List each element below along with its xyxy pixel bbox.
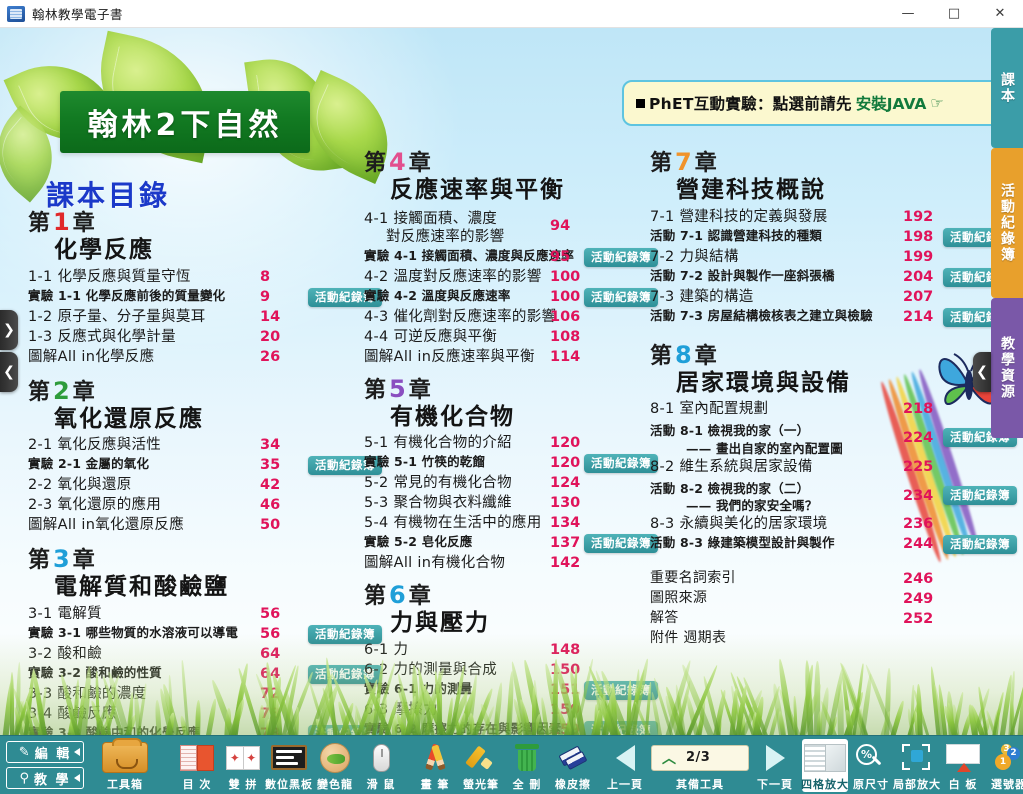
- toc-row[interactable]: 6-1 力148: [364, 641, 654, 660]
- chapter-number: 2: [51, 377, 73, 405]
- highlighter-label: 螢光筆: [463, 776, 499, 792]
- chapter-prefix: 第: [364, 584, 387, 609]
- toc-label: 7-3 建築的構造: [650, 288, 754, 307]
- prev-page-label: 上一頁: [607, 776, 643, 792]
- toc-page: 56: [260, 605, 280, 624]
- toc-page: 198: [903, 228, 933, 247]
- toc-label: 4-2 溫度對反應速率的影響: [364, 268, 542, 287]
- trash-icon: [515, 742, 539, 774]
- chapter-name: 電解質和酸鹼鹽: [54, 574, 358, 602]
- toc-row[interactable]: 圖解All in有機化合物142: [364, 554, 654, 573]
- chapter-prefix: 第: [364, 151, 387, 176]
- toc-page: 148: [550, 641, 580, 660]
- chapter-block: 第6章 力與壓力 6-1 力148 6-2 力的測量與合成150 實驗 6-1 …: [364, 581, 654, 735]
- chapter-number: 7: [673, 148, 695, 176]
- toc-label: 1-1 化學反應與質量守恆: [28, 268, 191, 287]
- toc-row[interactable]: 實驗 3-2 酸和鹼的性質64活動紀錄簿: [28, 665, 358, 684]
- toc-page: 50: [260, 516, 280, 535]
- number-picker-label: 選號器: [991, 776, 1023, 792]
- pen-button[interactable]: 畫 筆: [412, 739, 458, 792]
- toc-page: 26: [260, 348, 280, 367]
- toc-page: 9: [260, 288, 270, 307]
- toc-row[interactable]: 8-3 永續與美化的居家環境236: [650, 515, 980, 534]
- partial-zoom-icon: [902, 742, 932, 774]
- chapter-suffix: 章: [73, 380, 96, 405]
- toc-page: 120: [550, 454, 580, 473]
- chapter-prefix: 第: [28, 380, 51, 405]
- toc-label: 附件 週期表: [650, 630, 726, 648]
- toc-page: 159: [550, 721, 580, 735]
- toc-row[interactable]: 2-3 氧化還原的應用46: [28, 496, 358, 515]
- toc-page: 94: [550, 217, 570, 236]
- toc-label: 5-3 聚合物與衣料纖維: [364, 494, 512, 513]
- chapter-name: 營建科技概說: [676, 177, 980, 205]
- activity-record-badge[interactable]: 活動紀錄簿: [584, 681, 658, 700]
- four-grid-zoom-label: 四格放大: [801, 776, 849, 792]
- toc-row[interactable]: 活動 8-1 檢視我的家（一） —— 畫出自家的室內配置圖 224 活動紀錄簿: [650, 420, 980, 456]
- contents-button[interactable]: 目 次: [174, 739, 220, 792]
- chapter-items: 7-1 營建科技的定義與發展192 活動 7-1 認識營建科技的種類198活動紀…: [650, 208, 980, 327]
- toc-page: 34: [260, 436, 280, 455]
- activity-record-badge[interactable]: 活動紀錄簿: [584, 248, 658, 267]
- toc-row[interactable]: 4-2 溫度對反應速率的影響100: [364, 268, 654, 287]
- chapter-name: 化學反應: [54, 237, 358, 265]
- activity-record-badge[interactable]: 活動紀錄簿: [584, 534, 658, 553]
- toc-label: 圖解All in化學反應: [28, 348, 154, 367]
- toc-row[interactable]: 活動 8-3 綠建築模型設計與製作244活動紀錄簿: [650, 535, 980, 554]
- mouse-label: 滑 鼠: [367, 776, 396, 792]
- toc-row[interactable]: 圖解All in氧化還原反應50: [28, 516, 358, 535]
- toc-label: 2-2 氧化與還原: [28, 476, 132, 495]
- chapter-name: 氧化還原反應: [54, 406, 358, 434]
- toolbox-icon: [102, 742, 148, 774]
- toc-row[interactable]: 活動 7-1 認識營建科技的種類198活動紀錄簿: [650, 228, 980, 247]
- toc-page: 192: [903, 208, 933, 227]
- chapter-prefix: 第: [650, 344, 673, 369]
- toc-row[interactable]: 1-3 反應式與化學計量20: [28, 328, 358, 347]
- chapter-block: 第5章 有機化合物 5-1 有機化合物的介紹120 實驗 5-1 竹筷的乾餾12…: [364, 375, 654, 574]
- chapter-suffix: 章: [695, 344, 718, 369]
- mouse-icon: [373, 742, 390, 774]
- eraser-icon: [558, 742, 588, 774]
- toc-label: 實驗 4-2 溫度與反應速率: [364, 288, 511, 304]
- toc-row[interactable]: 4-3 催化劑對反應速率的影響106: [364, 308, 654, 327]
- toc-label: 重要名詞索引: [650, 570, 736, 588]
- side-tab-activity-record[interactable]: 活動紀錄簿: [991, 148, 1023, 298]
- toc-row[interactable]: 實驗 5-2 皂化反應137活動紀錄簿: [364, 534, 654, 553]
- toc-column-3: 第7章 營建科技概說 7-1 營建科技的定義與發展192 活動 7-1 認識營建…: [650, 148, 980, 650]
- chapter-heading: 第4章: [364, 148, 654, 177]
- side-tab-teaching-resources[interactable]: 教學資源: [991, 298, 1023, 438]
- toc-row[interactable]: 7-2 力與結構199: [650, 248, 980, 267]
- toc-row[interactable]: 解答252: [650, 610, 980, 629]
- chapter-block: 第3章 電解質和酸鹼鹽 3-1 電解質56 實驗 3-1 哪些物質的水溶液可以導…: [28, 545, 358, 735]
- chapter-prefix: 第: [28, 211, 51, 236]
- chapter-items: 2-1 氧化反應與活性34 實驗 2-1 金屬的氧化35活動紀錄簿 2-2 氧化…: [28, 436, 358, 535]
- toc-page: 64: [260, 665, 280, 684]
- toc-page: 204: [903, 268, 933, 287]
- toc-page: 42: [260, 476, 280, 495]
- prev-page-button[interactable]: 上一頁: [602, 739, 648, 792]
- toc-page: 207: [903, 288, 933, 307]
- toc-page: 150: [550, 661, 580, 680]
- blackboard-button[interactable]: 數位黑板: [266, 739, 312, 792]
- toc-row[interactable]: 實驗 2-1 金屬的氧化35活動紀錄簿: [28, 456, 358, 475]
- window-title: 翰林教學電子書: [32, 4, 123, 23]
- toc-label-line2: —— 畫出自家的室內配置圖: [686, 441, 843, 457]
- toc-label: 活動 8-3 綠建築模型設計與製作: [650, 535, 835, 551]
- partial-zoom-label: 局部放大: [893, 776, 941, 792]
- chapter-name: 有機化合物: [390, 404, 654, 432]
- triangle-left-icon: [616, 742, 635, 774]
- actual-size-label: 原尺寸: [853, 776, 889, 792]
- toc-row[interactable]: 5-2 常見的有機化合物124: [364, 474, 654, 493]
- page-prev-arrow-icon[interactable]: ❮: [973, 352, 991, 392]
- maximize-button[interactable]: □: [931, 0, 977, 28]
- toc-row[interactable]: 2-2 氧化與還原42: [28, 476, 358, 495]
- mouse-button[interactable]: 滑 鼠: [358, 739, 404, 792]
- toc-label: 活動 7-3 房屋結構檢核表之建立與檢驗: [650, 308, 873, 324]
- toc-label: 實驗 6-1 力的測量: [364, 681, 473, 697]
- chapter-suffix: 章: [409, 378, 432, 403]
- toc-row[interactable]: 6-2 力的測量與合成150: [364, 661, 654, 680]
- toc-label: 8-3 永續與美化的居家環境: [650, 515, 828, 534]
- toc-row[interactable]: 附件 週期表: [650, 630, 980, 649]
- toc-page: 137: [550, 534, 580, 553]
- side-tab-textbook[interactable]: 課本: [991, 28, 1023, 148]
- toc-label-line2: —— 我們的家安全嗎？: [686, 498, 818, 514]
- activity-record-badge[interactable]: 活動紀錄簿: [584, 288, 658, 307]
- bullet-square-icon: [636, 99, 645, 108]
- toc-label: 2-1 氧化反應與活性: [28, 436, 161, 455]
- toc-label: 活動 8-2 檢視我的家（二）: [650, 481, 809, 496]
- toc-label: 實驗 3-1 哪些物質的水溶液可以導電: [28, 625, 238, 641]
- toc-page: 159: [550, 701, 580, 720]
- actual-size-icon: %: [856, 742, 886, 774]
- toc-row[interactable]: 1-2 原子量、分子量與莫耳14: [28, 308, 358, 327]
- chapter-prefix: 第: [650, 151, 673, 176]
- chapter-suffix: 章: [409, 151, 432, 176]
- chapter-suffix: 章: [73, 548, 96, 573]
- caret-up-icon[interactable]: ︿: [662, 748, 676, 768]
- toc-page: 234: [903, 487, 933, 506]
- toc-page: 100: [550, 268, 580, 287]
- toc-row[interactable]: 3-3 酸和鹼的濃度72: [28, 685, 358, 704]
- toc-row[interactable]: 活動 7-3 房屋結構檢核表之建立與檢驗214活動紀錄簿: [650, 308, 980, 327]
- toc-row[interactable]: 4-4 可逆反應與平衡108: [364, 328, 654, 347]
- chapter-prefix: 第: [28, 548, 51, 573]
- edit-mode-label: 編 輯: [35, 743, 72, 762]
- pen-label: 畫 筆: [421, 776, 450, 792]
- toc-row[interactable]: 5-3 聚合物與衣料纖維130: [364, 494, 654, 513]
- toc-label: 活動 7-2 設計與製作一座斜張橋: [650, 268, 835, 284]
- chapter-name: 居家環境與設備: [676, 370, 980, 398]
- toc-page: 56: [260, 625, 280, 644]
- toc-page: 236: [903, 515, 933, 534]
- chapter-heading: 第8章: [650, 341, 980, 370]
- toc-label: 實驗 6-2 摩擦力的存在與影響因素: [364, 721, 561, 735]
- toc-page: 100: [550, 288, 580, 307]
- page-number: 2/3: [686, 750, 710, 765]
- toc-page: 142: [550, 554, 580, 573]
- chapter-block: 第1章 化學反應 1-1 化學反應與質量守恆8 實驗 1-1 化學反應前後的質量…: [28, 208, 358, 367]
- backmatter-list: 重要名詞索引246 圖照來源249 解答252 附件 週期表: [650, 570, 980, 649]
- toc-label: 3-3 酸和鹼的濃度: [28, 685, 146, 704]
- toc-label: 8-1 室內配置規劃: [650, 400, 768, 419]
- chapter-suffix: 章: [409, 584, 432, 609]
- toc-label: 6-1 力: [364, 641, 408, 660]
- toc-label: 實驗 4-1 接觸面積、濃度與反應速率: [364, 248, 574, 264]
- chapter-heading: 第6章: [364, 581, 654, 610]
- toc-row[interactable]: 4-1 接觸面積、濃度 對反應速率的影響 94: [364, 208, 654, 247]
- toc-row[interactable]: 實驗 6-1 力的測量151活動紀錄簿: [364, 681, 654, 700]
- toc-row[interactable]: 1-1 化學反應與質量守恆8: [28, 268, 358, 287]
- pointing-hand-icon: ☞: [930, 94, 943, 112]
- page-indicator[interactable]: ︿ 2/3: [651, 742, 749, 774]
- toc-page: 225: [903, 458, 933, 477]
- toc-page: 35: [260, 456, 280, 475]
- toc-row[interactable]: 7-1 營建科技的定義與發展192: [650, 208, 980, 227]
- toc-label: 5-4 有機物在生活中的應用: [364, 514, 542, 533]
- mode-switch-group: ✎ 編 輯 ⚲ 教 學: [6, 741, 84, 789]
- toc-page: 252: [903, 610, 933, 629]
- toc-row[interactable]: 圖解All in化學反應26: [28, 348, 358, 367]
- toc-label: 圖解All in氧化還原反應: [28, 516, 184, 535]
- chapter-prefix: 第: [364, 378, 387, 403]
- teach-mode-label: 教 學: [34, 769, 71, 788]
- toc-label: 實驗 3-3 酸鹼中和的化學反應: [28, 725, 200, 735]
- dual-page-label: 雙 拼: [229, 776, 258, 792]
- pencil-icon: ✎: [19, 745, 32, 760]
- highlighter-button[interactable]: 螢光筆: [458, 739, 504, 792]
- page-tool-label: 其備工具: [676, 776, 724, 792]
- toc-row[interactable]: 8-1 室內配置規劃218: [650, 400, 980, 419]
- whiteboard-icon: [946, 742, 980, 774]
- toc-page: 8: [260, 268, 270, 287]
- chapter-number: 6: [387, 581, 409, 609]
- toc-page: 244: [903, 535, 933, 554]
- four-grid-zoom-icon: [804, 742, 846, 774]
- toc-page: 64: [260, 645, 280, 664]
- toc-page: 20: [260, 328, 280, 347]
- next-page-label: 下一頁: [757, 776, 793, 792]
- blackboard-label: 數位黑板: [265, 776, 313, 792]
- chapter-block: 第2章 氧化還原反應 2-1 氧化反應與活性34 實驗 2-1 金屬的氧化35活…: [28, 377, 358, 536]
- toc-page: 249: [903, 590, 933, 609]
- caret-left-icon: [74, 774, 80, 782]
- toc-row[interactable]: 7-3 建築的構造207: [650, 288, 980, 307]
- chameleon-label: 變色龍: [317, 776, 353, 792]
- clear-all-label: 全 刪: [513, 776, 542, 792]
- toc-label: 活動 7-1 認識營建科技的種類: [650, 228, 822, 244]
- toc-label: 圖解All in反應速率與平衡: [364, 348, 535, 367]
- toc-label: 5-2 常見的有機化合物: [364, 474, 512, 493]
- toc-row[interactable]: 實驗 3-3 酸鹼中和的化學反應78活動紀錄簿: [28, 725, 358, 735]
- toc-page: 78: [260, 705, 280, 724]
- toc-row[interactable]: 活動 8-2 檢視我的家（二） —— 我們的家安全嗎？ 234 活動紀錄簿: [650, 478, 980, 514]
- panel-collapse-left-arrow-icon[interactable]: ❮: [0, 352, 18, 392]
- app-icon: [7, 6, 25, 22]
- chapter-number: 5: [387, 375, 409, 403]
- toc-page: 134: [550, 514, 580, 533]
- book-title-text: 翰林2下自然: [88, 100, 283, 144]
- toc-label: 1-2 原子量、分子量與莫耳: [28, 308, 206, 327]
- clear-all-button[interactable]: 全 刪: [504, 739, 550, 792]
- actual-size-button[interactable]: % 原尺寸: [848, 739, 894, 792]
- toc-label: 實驗 2-1 金屬的氧化: [28, 456, 149, 472]
- blackboard-icon: [271, 742, 307, 774]
- toc-page: 214: [903, 308, 933, 327]
- toc-page: 224: [903, 429, 933, 448]
- caret-left-icon: [74, 748, 80, 756]
- whiteboard-label: 白 板: [949, 776, 978, 792]
- toc-row[interactable]: 重要名詞索引246: [650, 570, 980, 589]
- chapter-number: 4: [387, 148, 409, 176]
- eraser-label: 橡皮擦: [555, 776, 591, 792]
- contents-label: 目 次: [183, 776, 212, 792]
- four-grid-zoom-button[interactable]: 四格放大: [802, 739, 848, 792]
- toc-page: 199: [903, 248, 933, 267]
- panel-expand-right-arrow-icon[interactable]: ❯: [0, 310, 18, 350]
- book-title-banner: 翰林2下自然: [60, 91, 310, 153]
- bottom-toolbar: ✎ 編 輯 ⚲ 教 學 工具箱 目 次 ✦✦ 雙 拼 數位黑板 變色龍 滑 鼠 …: [0, 735, 1023, 794]
- chapter-number: 1: [51, 208, 73, 236]
- toc-row[interactable]: 實驗 4-2 溫度與反應速率100活動紀錄簿: [364, 288, 654, 307]
- chapter-heading: 第2章: [28, 377, 358, 406]
- chapter-items: 1-1 化學反應與質量守恆8 實驗 1-1 化學反應前後的質量變化9活動紀錄簿 …: [28, 268, 358, 367]
- toc-page: 72: [260, 685, 280, 704]
- number-picker-icon: 321: [993, 742, 1023, 774]
- book-page: 翰林2下自然 課本目錄 PhET互動實驗：點選前請先 安裝JAVA ☞: [0, 28, 1023, 735]
- toc-row[interactable]: 6-3 摩擦力159: [364, 701, 654, 720]
- dual-page-icon: ✦✦: [226, 742, 260, 774]
- chapter-heading: 第3章: [28, 545, 358, 574]
- toc-row[interactable]: 實驗 6-2 摩擦力的存在與影響因素159活動紀錄簿: [364, 721, 654, 735]
- chapter-heading: 第7章: [650, 148, 980, 177]
- chapter-items: 5-1 有機化合物的介紹120 實驗 5-1 竹筷的乾餾120活動紀錄簿 5-2…: [364, 434, 654, 573]
- toc-page: 130: [550, 494, 580, 513]
- toc-label: 3-2 酸和鹼: [28, 645, 102, 664]
- install-java-link[interactable]: 安裝JAVA: [856, 92, 927, 114]
- chapter-name: 反應速率與平衡: [390, 177, 654, 205]
- toc-label: 3-4 酸鹼反應: [28, 705, 117, 724]
- toc-label: 4-1 接觸面積、濃度: [364, 211, 497, 227]
- chapter-items: 8-1 室內配置規劃218 活動 8-1 檢視我的家（一） —— 畫出自家的室內…: [650, 400, 980, 554]
- toc-label: 實驗 3-2 酸和鹼的性質: [28, 665, 162, 681]
- toc-label: 實驗 1-1 化學反應前後的質量變化: [28, 288, 225, 304]
- toc-row[interactable]: 實驗 5-1 竹筷的乾餾120活動紀錄簿: [364, 454, 654, 473]
- pointer-icon: ⚲: [19, 771, 31, 786]
- side-tab-strip: 課本 活動紀錄簿 教學資源: [991, 28, 1023, 735]
- toolbox-label: 工具箱: [107, 776, 143, 792]
- toc-page: 151: [550, 681, 580, 700]
- toc-row[interactable]: 3-1 電解質56: [28, 605, 358, 624]
- chapter-items: 6-1 力148 6-2 力的測量與合成150 實驗 6-1 力的測量151活動…: [364, 641, 654, 735]
- toc-label: 7-2 力與結構: [650, 248, 739, 267]
- toc-page: 114: [550, 348, 580, 367]
- toc-label-line2: 對反應速率的影響: [386, 228, 504, 247]
- dual-page-button[interactable]: ✦✦ 雙 拼: [220, 739, 266, 792]
- toc-page: 95: [550, 248, 570, 267]
- toc-label: 圖照來源: [650, 590, 707, 608]
- partial-zoom-button[interactable]: 局部放大: [894, 739, 940, 792]
- toc-column-2: 第4章 反應速率與平衡 4-1 接觸面積、濃度 對反應速率的影響 94 實驗 4…: [364, 148, 654, 735]
- chameleon-button[interactable]: 變色龍: [312, 739, 358, 792]
- phet-text: PhET互動實驗：點選前請先: [649, 92, 852, 114]
- title-bar: 翰林教學電子書 — □ ✕: [0, 0, 1023, 28]
- page-indicator-group[interactable]: ︿ 2/3 其備工具: [648, 739, 752, 792]
- toolbox-button[interactable]: 工具箱: [90, 739, 160, 792]
- chapter-name: 力與壓力: [390, 610, 654, 638]
- toc-row[interactable]: 5-4 有機物在生活中的應用134: [364, 514, 654, 533]
- highlighter-icon: [466, 742, 496, 774]
- eraser-button[interactable]: 橡皮擦: [550, 739, 596, 792]
- toc-page: 120: [550, 434, 580, 453]
- triangle-right-icon: [766, 742, 785, 774]
- toc-row[interactable]: 3-2 酸和鹼64: [28, 645, 358, 664]
- chapter-items: 4-1 接觸面積、濃度 對反應速率的影響 94 實驗 4-1 接觸面積、濃度與反…: [364, 208, 654, 367]
- toc-label: 4-3 催化劑對反應速率的影響: [364, 308, 556, 327]
- window-controls: — □ ✕: [885, 0, 1023, 28]
- chapter-heading: 第1章: [28, 208, 358, 237]
- number-picker-button[interactable]: 321 選號器: [986, 739, 1023, 792]
- chapter-suffix: 章: [695, 151, 718, 176]
- toc-page: 246: [903, 570, 933, 589]
- toc-label: 6-3 摩擦力: [364, 701, 438, 720]
- toc-label: 活動 8-1 檢視我的家（一）: [650, 423, 809, 438]
- toc-label: 3-1 電解質: [28, 605, 102, 624]
- chapter-number: 3: [51, 545, 73, 573]
- toc-label: 4-4 可逆反應與平衡: [364, 328, 497, 347]
- toc-page: 46: [260, 496, 280, 515]
- toc-column-1: 第1章 化學反應 1-1 化學反應與質量守恆8 實驗 1-1 化學反應前後的質量…: [28, 208, 358, 735]
- close-button[interactable]: ✕: [977, 0, 1023, 28]
- toc-page: 218: [903, 400, 933, 419]
- toc-label: 5-1 有機化合物的介紹: [364, 434, 512, 453]
- toc-label: 7-1 營建科技的定義與發展: [650, 208, 828, 227]
- toc-row[interactable]: 8-2 維生系統與居家設備225: [650, 458, 980, 477]
- toc-row[interactable]: 活動 7-2 設計與製作一座斜張橋204活動紀錄簿: [650, 268, 980, 287]
- toc-row[interactable]: 5-1 有機化合物的介紹120: [364, 434, 654, 453]
- toc-row[interactable]: 圖解All in反應速率與平衡114: [364, 348, 654, 367]
- toc-row[interactable]: 實驗 4-1 接觸面積、濃度與反應速率95活動紀錄簿: [364, 248, 654, 267]
- whiteboard-button[interactable]: 白 板: [940, 739, 986, 792]
- toc-label: 實驗 5-1 竹筷的乾餾: [364, 454, 485, 470]
- toc-label: 實驗 5-2 皂化反應: [364, 534, 473, 550]
- chapter-number: 8: [673, 341, 695, 369]
- contents-icon: [180, 742, 214, 774]
- toc-row[interactable]: 實驗 3-1 哪些物質的水溶液可以導電56活動紀錄簿: [28, 625, 358, 644]
- activity-record-badge[interactable]: 活動紀錄簿: [584, 721, 658, 735]
- next-page-button[interactable]: 下一頁: [752, 739, 798, 792]
- toc-row[interactable]: 圖照來源249: [650, 590, 980, 609]
- toc-row[interactable]: 實驗 1-1 化學反應前後的質量變化9活動紀錄簿: [28, 288, 358, 307]
- toc-label: 2-3 氧化還原的應用: [28, 496, 161, 515]
- activity-record-badge[interactable]: 活動紀錄簿: [584, 454, 658, 473]
- chapter-heading: 第5章: [364, 375, 654, 404]
- toc-row[interactable]: 3-4 酸鹼反應78: [28, 705, 358, 724]
- phet-banner[interactable]: PhET互動實驗：點選前請先 安裝JAVA ☞: [622, 80, 1014, 126]
- minimize-button[interactable]: —: [885, 0, 931, 28]
- toc-label: 圖解All in有機化合物: [364, 554, 505, 573]
- chameleon-icon: [320, 742, 350, 774]
- toc-row[interactable]: 2-1 氧化反應與活性34: [28, 436, 358, 455]
- teach-mode-button[interactable]: ⚲ 教 學: [6, 767, 84, 789]
- chapter-block: 第8章 居家環境與設備 8-1 室內配置規劃218 活動 8-1 檢視我的家（一…: [650, 341, 980, 554]
- toc-page: 124: [550, 474, 580, 493]
- toc-page: 78: [260, 725, 280, 735]
- edit-mode-button[interactable]: ✎ 編 輯: [6, 741, 84, 763]
